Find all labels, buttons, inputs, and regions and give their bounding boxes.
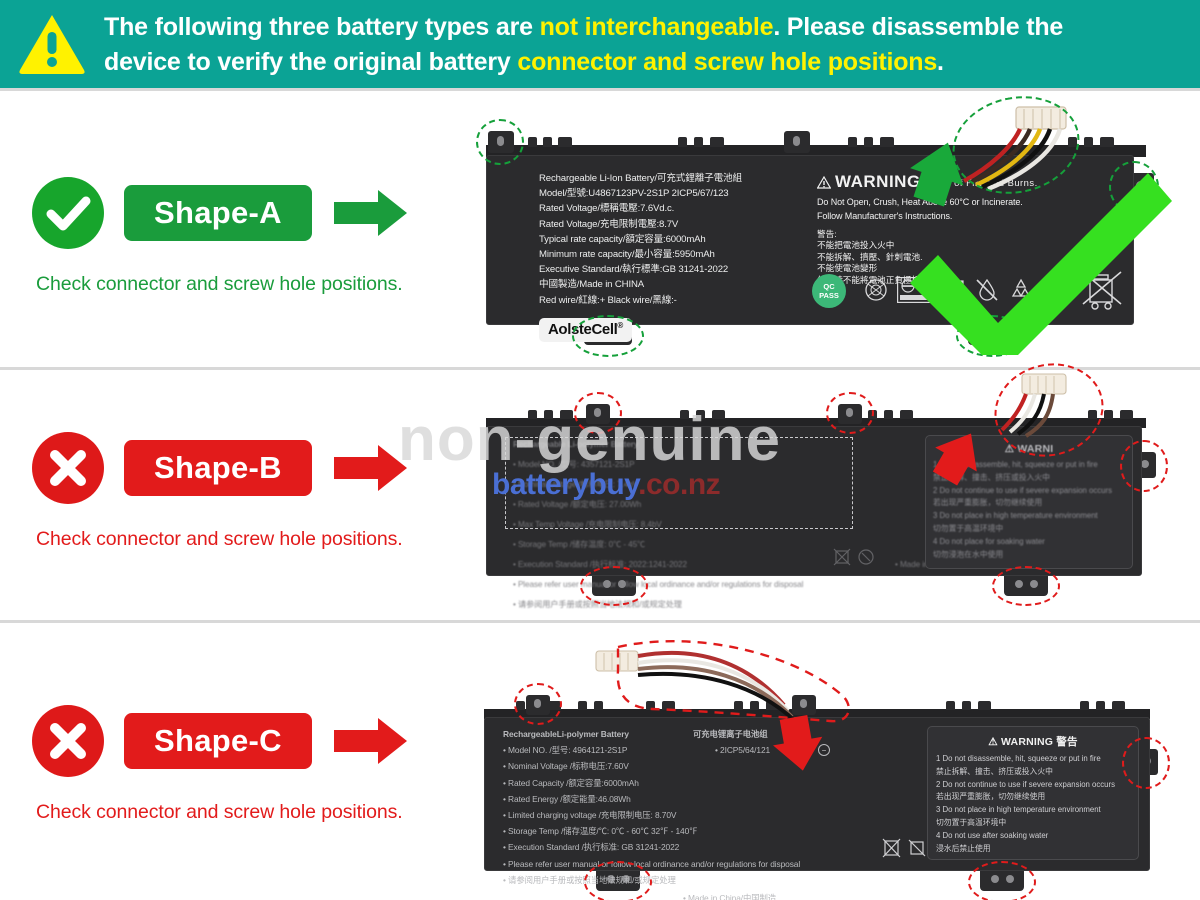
battery-b-warning-box: ⚠ WARNI 1 Do not disassemble, hit, squee…: [925, 435, 1133, 569]
spec-line: Minimum rate capacity/最小容量:5950mAh: [539, 247, 742, 262]
made-in-line: • Made in China/中国制造: [683, 890, 776, 900]
li-ion-icon: S: [1043, 279, 1065, 301]
warning-cn-line: 警告:: [817, 229, 1067, 240]
qc-pass-line2: PASS: [819, 291, 839, 300]
shape-b-badge-group: Shape-B: [32, 432, 408, 504]
spec-line: Model/型號:U4867123PV-2S1P 2ICP5/67/123: [539, 186, 742, 201]
warning-line: 3 Do not place in high temperature envir…: [933, 510, 1126, 523]
eu-recycle-icon: [941, 277, 965, 303]
cell-code: • 2ICP5/64/121: [715, 742, 770, 758]
shape-a-pill: Shape-A: [124, 185, 312, 241]
battery-a-image: Rechargeable Li-Ion Battery/可充式鋰離子電池組 Mo…: [468, 109, 1168, 359]
ce-mark-icon: [865, 279, 887, 301]
certification-icon-row: S: [865, 268, 1123, 312]
cross-mark-icon: [32, 705, 104, 777]
row-shape-a: Shape-A Check connector and screw hole p…: [0, 91, 1200, 367]
banner-text: The following three battery types are no…: [104, 8, 1063, 81]
spec-line: • 请参阅用户手册或按照当地法规和/或规定处理: [513, 595, 803, 615]
wheelie-bin-crossed-icon: [1081, 268, 1123, 312]
warning-line: Follow Manufacturer's Instructions.: [817, 209, 1067, 223]
spec-line: • Storage Temp /储存温度/℃: 0℃ - 60℃ 32℉ - 1…: [503, 823, 800, 839]
highlight-screw-top-left: [476, 119, 524, 165]
battery-a-spec-block: Rechargeable Li-Ion Battery/可充式鋰離子電池組 Mo…: [539, 171, 742, 308]
screw-hole-top-middle: [784, 131, 810, 153]
banner-line2-post: .: [937, 48, 944, 76]
spec-line: Executive Standard/執行標準:GB 31241-2022: [539, 262, 742, 277]
highlight-screw-bottom-right: [968, 861, 1036, 900]
spec-line: Red wire/紅線:+ Black wire/黑線:-: [539, 293, 742, 308]
svg-text:S: S: [1051, 286, 1058, 297]
battery-a-tab: [864, 137, 873, 147]
battery-c-tab: [1080, 701, 1089, 710]
cross-mark-icon: [32, 432, 104, 504]
battery-c-image: RechargeableLi-polymer Battery • Model N…: [468, 653, 1168, 891]
watermark-site: batterybuy.co.nz: [492, 468, 720, 502]
spec-line: • Please refer user manual or follow loc…: [503, 856, 800, 872]
warning-line: 切勿浸泡在水中使用: [933, 549, 1126, 562]
warning-cn-line: 不能把電池投入火中: [817, 240, 1067, 251]
highlight-screw-right: [1122, 737, 1170, 789]
battery-c-tab: [946, 701, 955, 710]
battery-a-tab: [558, 137, 572, 147]
spec-line: • Please refer user manual or follow loc…: [513, 575, 803, 595]
row-shape-c: Shape-C Check connector and screw hole p…: [0, 623, 1200, 900]
spec-line: • Execution Standard /执行标准: GB 31241-202…: [503, 839, 800, 855]
battery-b-disposal-icons: [832, 545, 880, 571]
battery-a-tab: [848, 137, 857, 147]
spec-line: Rated Voltage/標稱電壓:7.6Vd.c.: [539, 201, 742, 216]
warning-triangle-icon: [18, 12, 86, 76]
warning-line: 4 Do not use after soaking water: [936, 830, 1132, 843]
check-mark-icon: [32, 177, 104, 249]
warning-line: 1 Do not disassemble, hit, squeeze or pu…: [933, 459, 1126, 472]
spec-line: • Nominal Voltage /标称电压:7.60V: [503, 758, 800, 774]
warning-line: 1 Do not disassemble, hit, squeeze or pu…: [936, 753, 1132, 766]
polarity-negative: −: [818, 744, 830, 756]
warning-title-text: WARNING:: [835, 172, 927, 192]
banner-line2-pre: device to verify the original battery: [104, 48, 517, 76]
highlight-screw-bottom-right: [992, 566, 1060, 606]
shape-a-badge-group: Shape-A: [32, 177, 408, 249]
battery-a-tab: [880, 137, 894, 147]
battery-b-tab: [900, 410, 913, 419]
spec-line: • Rated Capacity /额定容量:6000mAh: [503, 775, 800, 791]
arrow-right-icon: [334, 188, 408, 238]
battery-c-body: RechargeableLi-polymer Battery • Model N…: [484, 717, 1150, 871]
battery-c-tab: [1096, 701, 1105, 710]
shape-a-caption: Check connector and screw hole positions…: [36, 273, 403, 296]
highlight-screw-bottom-left: [572, 315, 644, 357]
spec-line: • Limited charging voltage /充电限制电压: 8.70…: [503, 807, 800, 823]
shape-c-badge-group: Shape-C: [32, 705, 408, 777]
highlight-screw-bottom-left: [580, 566, 648, 606]
battery-c-polarity-marks: + −: [797, 744, 830, 756]
warning-line: 4 Do not place for soaking water: [933, 536, 1126, 549]
battery-a-tab: [528, 137, 537, 147]
shape-b-caption: Check connector and screw hole positions…: [36, 528, 403, 551]
recycle-loop-icon: [1009, 278, 1033, 302]
battery-c-warning-title: ⚠ WARNING 警告: [928, 734, 1138, 749]
battery-a-tab: [710, 137, 724, 147]
battery-c-tab: [578, 701, 587, 710]
battery-b-tab: [884, 410, 893, 419]
highlight-screw-top-left: [514, 683, 562, 725]
highlight-screw-top-middle: [826, 392, 874, 434]
warning-line: 浸水后禁止使用: [936, 843, 1132, 856]
qc-pass-badge: QC PASS: [812, 274, 846, 308]
battery-c-warning-box: ⚠ WARNING 警告 1 Do not disassemble, hit, …: [927, 726, 1139, 860]
warning-cn-line: 不能拆解、擠壓、針刺電池.: [817, 252, 1067, 263]
banner-line2-highlight: connector and screw hole positions: [517, 48, 937, 76]
battery-a-tab: [543, 137, 552, 147]
no-water-icon: [975, 278, 999, 302]
battery-c-tab: [978, 701, 991, 710]
battery-a-tab: [694, 137, 703, 147]
spec-line: Rechargeable Li-Ion Battery/可充式鋰離子電池組: [539, 171, 742, 186]
battery-a-tab: [678, 137, 687, 147]
banner-line1-highlight: not interchangeable: [540, 13, 774, 41]
shape-b-pill: Shape-B: [124, 440, 312, 496]
warning-line: 禁止拆解、撞击、挤压或投入火中: [936, 766, 1132, 779]
qc-pass-line1: QC: [823, 282, 834, 291]
spec-line: 中國製造/Made in CHINA: [539, 277, 742, 292]
china-rohs-icon: [897, 277, 931, 303]
battery-comparison-page: The following three battery types are no…: [0, 0, 1200, 900]
warning-line: 若出现严重膨胀，切勿继续使用: [933, 497, 1126, 510]
watermark-site-part2: .co.nz: [638, 468, 720, 501]
banner-line1-post: . Please disassemble the: [773, 13, 1063, 41]
battery-c-tab: [962, 701, 971, 710]
watermark-non-genuine: non-genuine: [398, 404, 781, 475]
warning-line: 切勿置于高温环境中: [933, 523, 1126, 536]
spec-line: • Max Temp Voltage /充电限制电压: 8.4bV: [513, 515, 803, 535]
warning-triangle-small-icon: [817, 176, 831, 189]
highlight-screw-right: [1120, 440, 1168, 492]
warning-line: 3 Do not place in high temperature envir…: [936, 804, 1132, 817]
battery-c-connector-wires: [588, 623, 848, 733]
spec-line: • Rated Energy /额定能量:46.08Wh: [503, 791, 800, 807]
highlight-screw-bottom-left: [584, 861, 652, 900]
watermark-site-part1: batterybuy: [492, 468, 638, 501]
warning-line: 2 Do not continue to use if severe expan…: [933, 485, 1126, 498]
warning-line: 2 Do not continue to use if severe expan…: [936, 779, 1132, 792]
spec-line: • Execution Standard /执行标准: 2022:1241-20…: [513, 555, 803, 575]
shape-c-caption: Check connector and screw hole positions…: [36, 801, 403, 824]
warning-line: 若出现严重膨胀，切勿继续使用: [936, 791, 1132, 804]
banner-line1-pre: The following three battery types are: [104, 13, 540, 41]
shape-c-pill: Shape-C: [124, 713, 312, 769]
spec-line: Typical rate capacity/額定容量:6000mAh: [539, 232, 742, 247]
battery-c-tab: [1112, 701, 1125, 710]
battery-a-tab: [1100, 137, 1114, 147]
battery-c-made-in: • Made in China/中国制造: [683, 890, 776, 900]
arrow-right-icon: [334, 716, 408, 766]
polarity-positive: +: [797, 744, 809, 756]
arrow-right-icon: [334, 443, 408, 493]
spec-line: • Storage Temp /储存温度: 0℃ - 45℃: [513, 535, 803, 555]
header-warning-banner: The following three battery types are no…: [0, 0, 1200, 88]
spec-line: Rated Voltage/充电限制電壓:8.7V: [539, 217, 742, 232]
warning-line: 禁止拆解、撞击、挤压或投入火中: [933, 472, 1126, 485]
warning-line: 切勿置于高温环境中: [936, 817, 1132, 830]
highlight-screw-right: [1109, 161, 1159, 213]
highlight-screw-bottom-right: [956, 315, 1028, 357]
